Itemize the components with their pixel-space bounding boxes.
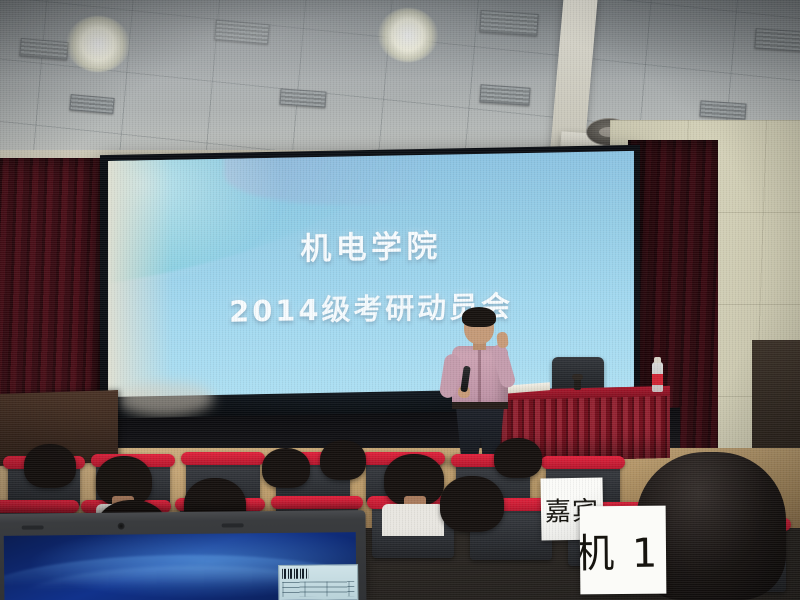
auditorium-photo: 机电学院 2014级考研动员会 [0, 0, 800, 600]
bottle-label [652, 374, 663, 385]
seat-sign-department-text: 机 1 [580, 521, 660, 580]
bottle-cap [654, 357, 661, 363]
slide-edge-falloff [108, 160, 172, 399]
barcode-icon [282, 569, 308, 579]
laptop-latch [22, 525, 44, 529]
audience-head [320, 440, 366, 480]
presenter-belt [452, 402, 508, 409]
water-bottle [652, 362, 663, 392]
webcam-icon [118, 523, 125, 530]
presenter-hair [462, 307, 496, 327]
laptop-lid [0, 510, 366, 600]
seat-sign-department: 机 1 [580, 506, 667, 595]
presenter [440, 310, 520, 460]
audience-head [24, 444, 76, 488]
asset-label-fields [282, 581, 354, 597]
laptop-latch [222, 523, 244, 527]
audience-head [440, 476, 504, 532]
slide-subtitle: 2014级考研动员会 [108, 281, 634, 333]
audience-head [494, 438, 542, 478]
audience-shirt [382, 504, 444, 536]
presenter-hand-right [496, 331, 509, 348]
asset-label-sticker [278, 564, 358, 600]
slide-title: 机电学院 [108, 217, 634, 272]
desk-microphone-icon [574, 378, 581, 390]
audience-head [262, 448, 310, 488]
